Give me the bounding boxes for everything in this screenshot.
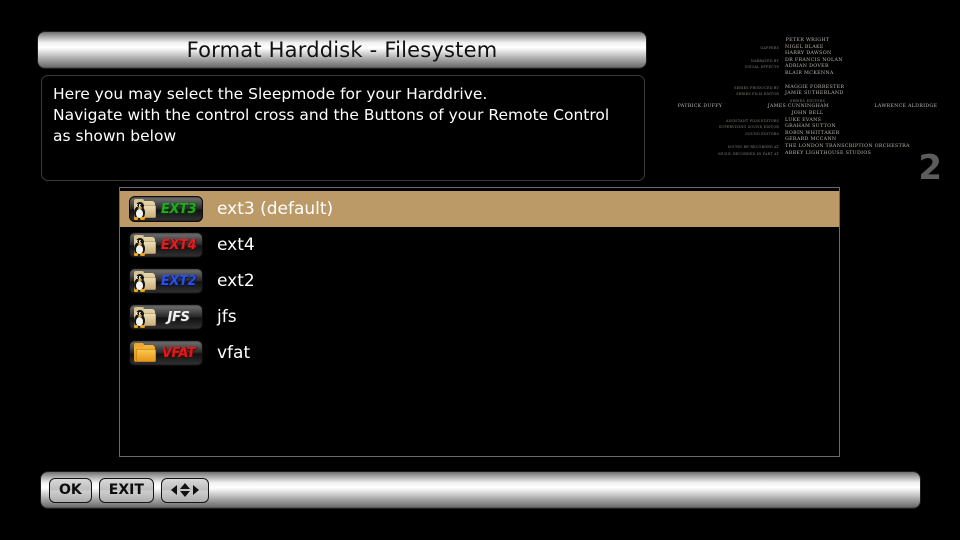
credit-role: Music Recorded in Part at [655, 151, 785, 158]
credit-role: Assistant Film Editors [655, 118, 785, 125]
credit-line: Series Film EditorJamie Sutherland [655, 91, 960, 98]
vfat-folder-icon: VFAT [129, 340, 203, 366]
list-item-label: ext2 [217, 273, 255, 290]
description-box: Here you may select the Sleepmode for yo… [41, 75, 645, 181]
ext3-folder-icon: EXT3 [129, 196, 203, 222]
credit-role: Series Film Editor [655, 91, 785, 98]
fs-badge-label: EXT2 [158, 275, 203, 288]
ok-button[interactable]: OK [49, 478, 92, 503]
button-bar: OK EXIT [41, 472, 920, 508]
video-preview: Peter WrightGaffersNigel BlakeHarry Daws… [655, 20, 960, 190]
credit-name: Jamie Sutherland [785, 91, 960, 98]
credit-name: Patrick Duffy [678, 104, 722, 111]
credit-line: Supervising Sound EditorGraham Sutton [655, 124, 960, 131]
page-title: Format Harddisk - Filesystem [187, 38, 498, 62]
credit-line: Patrick DuffyJames CunninghamLawrence Al… [655, 104, 960, 111]
credit-line: John Bell [655, 111, 960, 118]
credit-line: Music Recorded in Part atAbbey Lighthous… [655, 151, 960, 158]
credit-role [655, 137, 785, 144]
credit-name: Graham Sutton [785, 124, 960, 131]
ext2-folder-icon: EXT2 [129, 268, 203, 294]
credit-name: Gerard McCann [785, 137, 960, 144]
tux-penguin-icon [133, 310, 146, 327]
credit-line: Gerard McCann [655, 137, 960, 144]
description-line-3: as shown below [53, 126, 633, 147]
fs-badge-label: EXT4 [158, 239, 203, 252]
credit-role: Supervising Sound Editor [655, 124, 785, 131]
credit-role [655, 51, 785, 58]
tux-penguin-icon [133, 202, 146, 219]
credit-name: Lawrence Aldridge [874, 104, 937, 111]
credit-spacer [655, 78, 960, 85]
channel-logo: 2 [918, 151, 942, 185]
credit-role: Gaffers [655, 45, 785, 52]
credit-role: Narrated by [655, 58, 785, 65]
credit-line: Harry Dawson [655, 51, 960, 58]
osd-screen: Peter WrightGaffersNigel BlakeHarry Daws… [0, 0, 960, 540]
list-item[interactable]: EXT3ext3 (default) [120, 191, 839, 227]
exit-button[interactable]: EXIT [99, 478, 154, 503]
fs-badge-label: JFS [158, 311, 203, 324]
list-item-label: vfat [217, 345, 250, 362]
arrow-updown-icon [180, 483, 190, 497]
credit-line: Sound Re-recorded atThe London Transcrip… [655, 144, 960, 151]
credit-role: Series Produced by [655, 85, 785, 92]
list-item-label: jfs [217, 309, 237, 326]
credit-role: Visual Effects [655, 64, 785, 71]
credit-name: James Cunningham [768, 104, 829, 111]
list-item-label: ext3 (default) [217, 201, 333, 218]
credit-role [655, 71, 785, 78]
description-line-1: Here you may select the Sleepmode for yo… [53, 84, 633, 105]
list-item[interactable]: JFSjfs [120, 299, 839, 335]
ok-button-label: OK [59, 483, 82, 497]
description-line-2: Navigate with the control cross and the … [53, 105, 633, 126]
list-item-label: ext4 [217, 237, 255, 254]
credit-role: Sound Re-recorded at [655, 144, 785, 151]
credit-name: Blair McKenna [785, 71, 960, 78]
arrow-up-icon [180, 483, 190, 489]
credit-name: Adrian Dover [785, 64, 960, 71]
credit-line: Peter Wright [655, 38, 960, 45]
arrow-down-icon [180, 491, 190, 497]
movie-credits: Peter WrightGaffersNigel BlakeHarry Daws… [655, 38, 960, 157]
arrow-left-icon [171, 485, 177, 495]
list-item[interactable]: EXT2ext2 [120, 263, 839, 299]
credit-line: Visual EffectsAdrian Dover [655, 64, 960, 71]
list-item[interactable]: EXT4ext4 [120, 227, 839, 263]
credit-role: Sound Editors [655, 131, 785, 138]
list-item[interactable]: VFATvfat [120, 335, 839, 371]
exit-button-label: EXIT [109, 483, 144, 497]
filesystem-list[interactable]: EXT3ext3 (default)EXT4ext4EXT2ext2JFSjfs… [119, 187, 840, 457]
fs-badge-label: VFAT [158, 347, 203, 360]
jfs-folder-icon: JFS [129, 304, 203, 330]
tux-penguin-icon [133, 274, 146, 291]
arrow-right-icon [193, 485, 199, 495]
credit-name: Harry Dawson [785, 51, 960, 58]
window-title-bar: Format Harddisk - Filesystem [38, 32, 646, 68]
ext4-folder-icon: EXT4 [129, 232, 203, 258]
credit-line: Blair McKenna [655, 71, 960, 78]
control-cross-button[interactable] [161, 478, 209, 503]
fs-badge-label: EXT3 [158, 203, 203, 216]
tux-penguin-icon [133, 238, 146, 255]
